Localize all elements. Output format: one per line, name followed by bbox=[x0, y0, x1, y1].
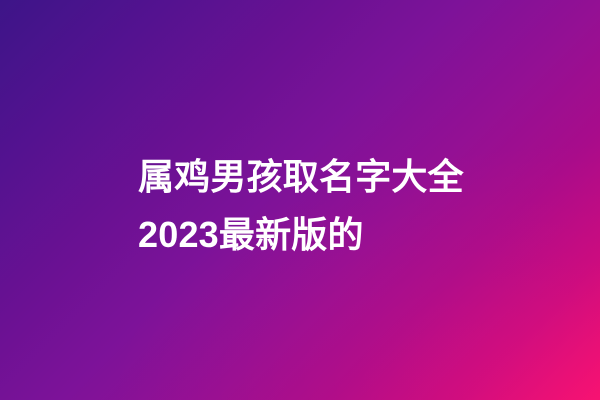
title-card: 属鸡男孩取名字大全 2023最新版的 bbox=[0, 0, 600, 400]
page-title: 属鸡男孩取名字大全 2023最新版的 bbox=[138, 148, 538, 264]
